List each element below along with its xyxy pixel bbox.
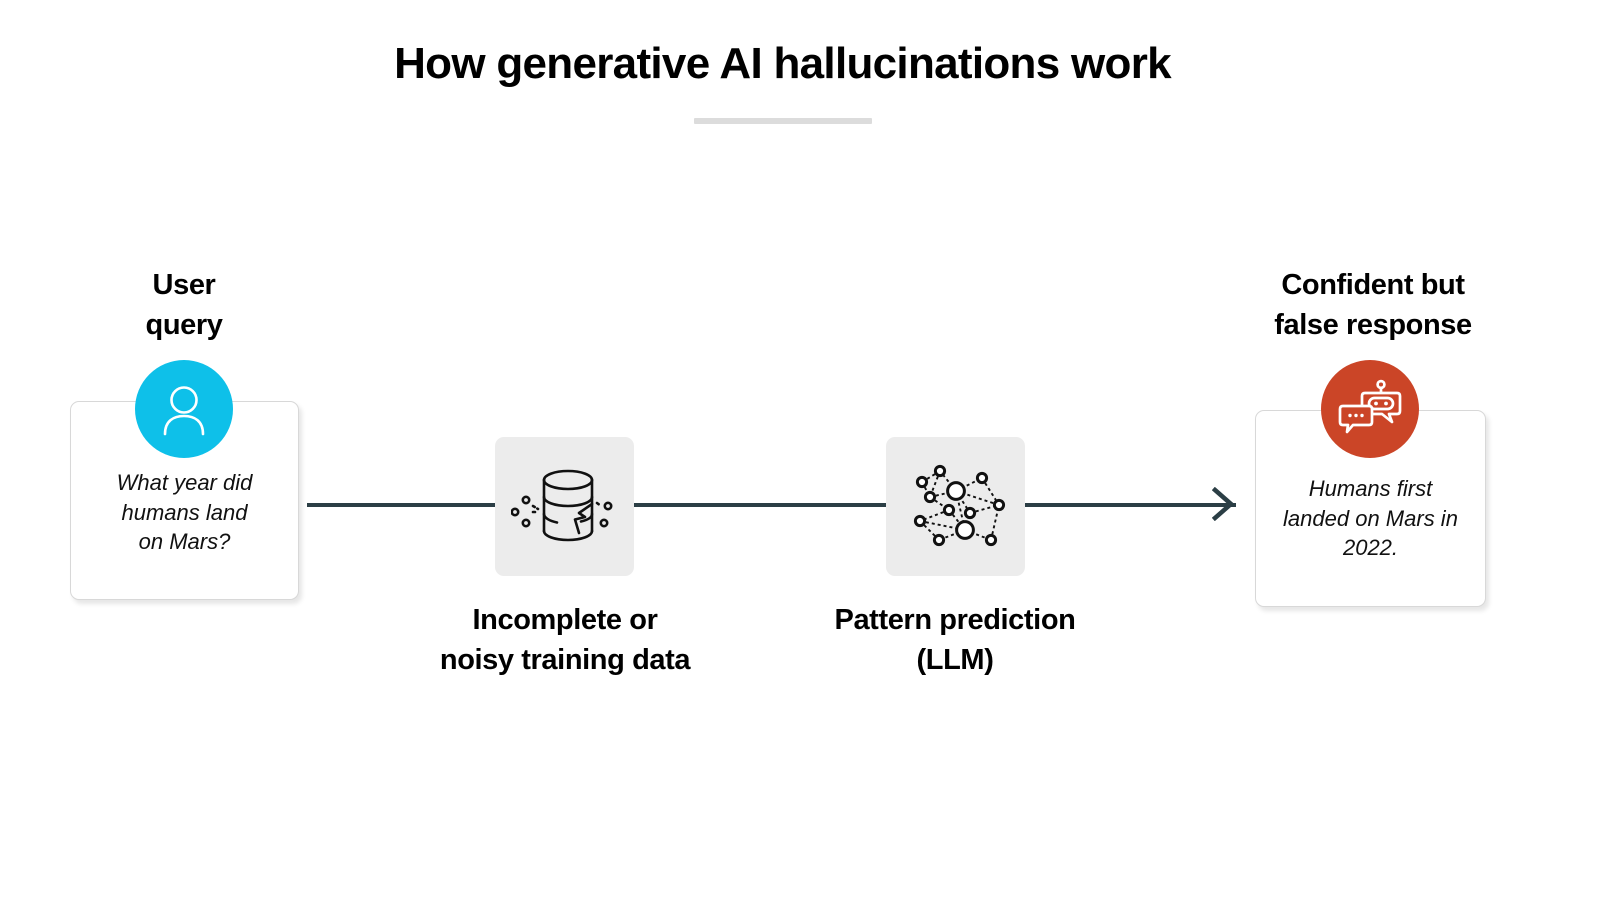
flow-connector-segment-1: [307, 503, 497, 507]
pattern-prediction-heading: Pattern prediction (LLM): [790, 600, 1120, 680]
user-query-heading: User query: [64, 265, 304, 345]
response-heading: Confident but false response: [1243, 265, 1503, 345]
pattern-prediction-icon-tile: [886, 437, 1025, 576]
arrow-right-icon: [1212, 487, 1234, 521]
flow-connector-segment-2: [633, 503, 888, 507]
title-block: How generative AI hallucinations work: [0, 40, 1565, 124]
cracked-database-icon: [511, 461, 619, 553]
training-data-heading: Incomplete or noisy training data: [380, 600, 750, 680]
user-query-text: What year did humans land on Mars?: [71, 468, 298, 557]
neural-network-icon: [904, 458, 1008, 556]
user-avatar-icon: [135, 360, 233, 458]
page-title: How generative AI hallucinations work: [0, 40, 1565, 88]
chatbot-icon: [1321, 360, 1419, 458]
training-data-icon-tile: [495, 437, 634, 576]
response-text: Humans first landed on Mars in 2022.: [1256, 474, 1485, 563]
title-divider: [694, 118, 872, 124]
flow-connector-segment-3: [1024, 503, 1236, 507]
